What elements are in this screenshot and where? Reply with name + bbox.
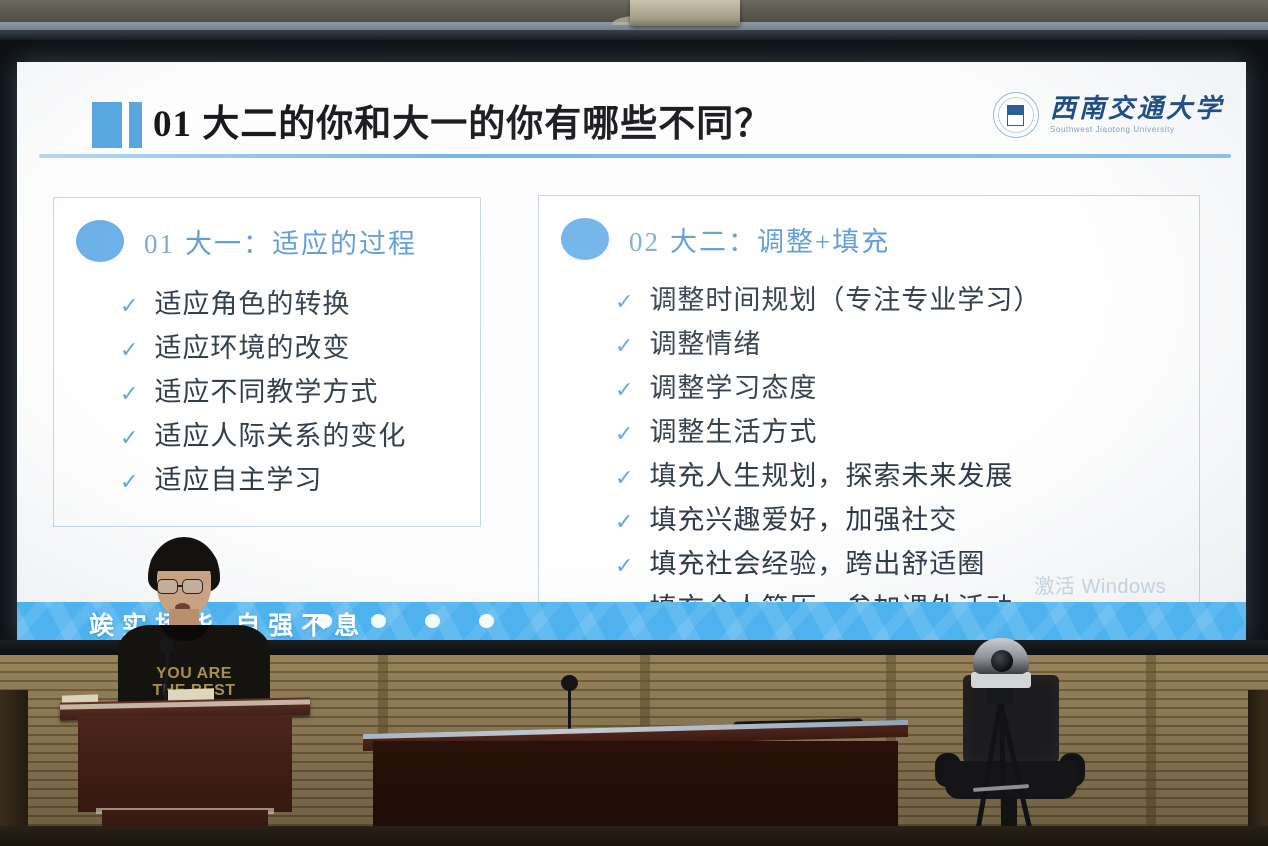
list-item: ✓ 填充人生规划，探索未来发展: [615, 454, 1041, 493]
tshirt-print-line-1: YOU ARE: [146, 665, 242, 682]
footer-dot: [371, 614, 386, 628]
university-name-cn: 西南交通大学: [1050, 96, 1224, 122]
glasses-icon: [157, 579, 178, 594]
glasses-icon: [182, 579, 203, 594]
table-mic-stem: [568, 685, 571, 731]
microphone-icon: [159, 638, 174, 653]
list-item-label: 调整学习态度: [649, 366, 817, 405]
seal-core: [1007, 105, 1024, 126]
list-item: ✓ 适应环境的改变: [120, 326, 406, 365]
title-accent-block-wide: [92, 102, 122, 148]
check-icon: ✓: [615, 467, 633, 489]
camera-tripod: [955, 638, 1045, 846]
check-icon: ✓: [615, 379, 633, 401]
camera-lens-icon: [991, 650, 1013, 672]
check-icon: ✓: [615, 335, 633, 357]
left-box-number: 01: [144, 229, 175, 259]
list-item-label: 填充兴趣爱好，加强社交: [649, 498, 957, 537]
list-item: ✓ 适应角色的转换: [120, 282, 406, 321]
bullet-circle-icon: [76, 220, 124, 262]
check-icon: ✓: [615, 423, 633, 445]
screen-top-edge: [0, 30, 1268, 40]
list-item: ✓ 填充兴趣爱好，加强社交: [615, 498, 1041, 537]
list-item: ✓ 填充社会经验，跨出舒适圈: [615, 542, 1041, 581]
title-divider: [39, 154, 1231, 158]
check-icon: ✓: [615, 555, 633, 577]
list-item: ✓ 适应人际关系的变化: [120, 414, 406, 453]
right-side-panel: [1248, 690, 1268, 846]
camera-mount: [987, 686, 1013, 704]
list-item: ✓ 调整情绪: [615, 322, 1041, 361]
right-box-number: 02: [629, 227, 660, 257]
check-icon: ✓: [120, 339, 138, 361]
footer-dot: [425, 614, 440, 628]
right-box-heading-text: 大二：调整+填充: [670, 227, 890, 257]
list-item-label: 调整情绪: [649, 322, 761, 361]
list-item-label: 适应人际关系的变化: [154, 414, 406, 453]
ceiling-projector: [630, 0, 740, 26]
podium: [60, 700, 310, 846]
content-box-right: 02大二：调整+填充 ✓ 调整时间规划（专注专业学习） ✓ 调整情绪 ✓ 调整学…: [538, 195, 1200, 620]
university-logo: 西南交通大学 Southwest Jiaotong University: [993, 92, 1224, 138]
university-seal-icon: [993, 92, 1039, 138]
left-box-heading-text: 大一：适应的过程: [185, 229, 417, 259]
right-box-header: 02大二：调整+填充: [561, 218, 890, 260]
list-item: ✓ 调整生活方式: [615, 410, 1041, 449]
left-box-heading: 01大一：适应的过程: [144, 222, 417, 261]
tripod-leg: [972, 702, 1003, 846]
right-box-heading: 02大二：调整+填充: [629, 220, 890, 259]
left-side-panel: [0, 690, 28, 846]
title-accent-block-narrow: [129, 102, 142, 148]
lecture-hall-scene: 01 大二的你和大一的你有哪些不同？ 西南交通大学 Southwest Jiao…: [0, 0, 1268, 846]
check-icon: ✓: [120, 295, 138, 317]
camera-base: [971, 672, 1031, 688]
list-item-label: 调整时间规划（专注专业学习）: [649, 278, 1041, 317]
list-item-label: 适应角色的转换: [154, 282, 350, 321]
slide-title-row: 01 大二的你和大一的你有哪些不同？ 西南交通大学 Southwest Jiao…: [17, 80, 1246, 148]
check-icon: ✓: [120, 471, 138, 493]
university-name-en: Southwest Jiaotong University: [1050, 126, 1224, 134]
footer-dot-group: [317, 614, 494, 628]
slide-title: 01 大二的你和大一的你有哪些不同？: [153, 93, 772, 147]
list-item: ✓ 适应不同教学方式: [120, 370, 406, 409]
check-icon: ✓: [615, 291, 633, 313]
list-item-label: 适应自主学习: [154, 458, 322, 497]
glasses-bridge: [178, 585, 183, 587]
bullet-circle-icon: [561, 218, 609, 260]
floor: [0, 826, 1268, 846]
check-icon: ✓: [120, 383, 138, 405]
check-icon: ✓: [615, 511, 633, 533]
microphone-icon: [561, 675, 578, 691]
right-box-list: ✓ 调整时间规划（专注专业学习） ✓ 调整情绪 ✓ 调整学习态度 ✓ 调整生活方…: [615, 278, 1041, 630]
content-box-left: 01大一：适应的过程 ✓ 适应角色的转换 ✓ 适应环境的改变 ✓ 适应不同教学方…: [53, 197, 481, 527]
list-item-label: 调整生活方式: [649, 410, 817, 449]
list-item: ✓ 调整学习态度: [615, 366, 1041, 405]
footer-dot: [317, 614, 332, 628]
podium-body: [78, 716, 292, 812]
list-item-label: 填充人生规划，探索未来发展: [649, 454, 1013, 493]
list-item-label: 适应不同教学方式: [154, 370, 378, 409]
check-icon: ✓: [120, 427, 138, 449]
left-box-header: 01大一：适应的过程: [76, 220, 417, 262]
list-item: ✓ 调整时间规划（专注专业学习）: [615, 278, 1041, 317]
footer-dot: [479, 614, 494, 628]
left-box-list: ✓ 适应角色的转换 ✓ 适应环境的改变 ✓ 适应不同教学方式 ✓ 适应人际关系的…: [120, 282, 406, 502]
list-item-label: 填充社会经验，跨出舒适圈: [649, 542, 985, 581]
university-logo-text: 西南交通大学 Southwest Jiaotong University: [1050, 96, 1224, 134]
list-item-label: 适应环境的改变: [154, 326, 350, 365]
list-item: ✓ 适应自主学习: [120, 458, 406, 497]
